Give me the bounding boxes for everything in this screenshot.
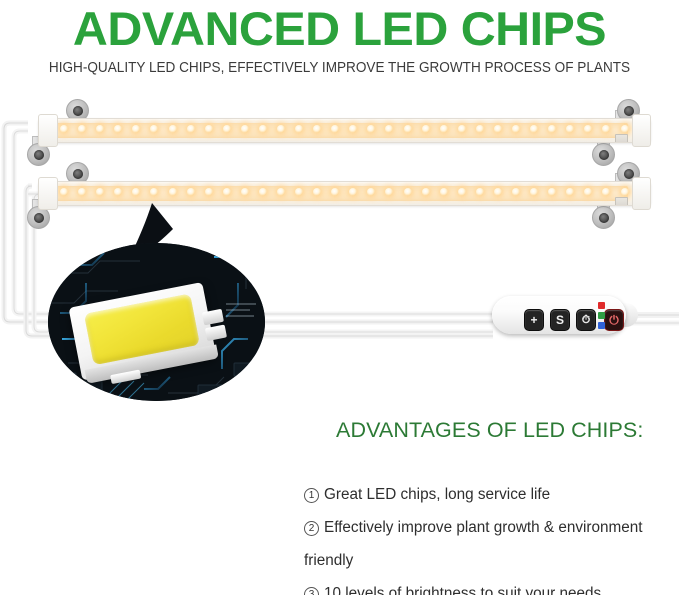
product-marketing-image: ADVANCED LED CHIPS HIGH-QUALITY LED CHIP…	[0, 0, 679, 595]
led-diode	[313, 125, 321, 133]
led-diode	[458, 188, 466, 196]
led-diode	[367, 125, 375, 133]
led-diode	[476, 125, 484, 133]
led-diode	[349, 125, 357, 133]
list-item-text: Great LED chips, long service life	[324, 486, 550, 503]
brightness-up-button[interactable]: +	[524, 309, 544, 331]
led-diode	[584, 125, 592, 133]
led-diode	[530, 125, 538, 133]
led-diode	[169, 125, 177, 133]
mount-bracket-bottom-right	[592, 143, 615, 166]
led-diode	[566, 125, 574, 133]
led-strip-top	[10, 108, 669, 152]
led-diode	[602, 125, 610, 133]
list-number-icon: 2	[304, 521, 319, 536]
led-diode	[241, 188, 249, 196]
strip-contacts	[615, 134, 628, 143]
indicator-red	[598, 302, 605, 309]
led-diode	[494, 125, 502, 133]
led-diode	[277, 125, 285, 133]
led-diode	[440, 188, 448, 196]
led-diode	[60, 125, 68, 133]
led-diode	[548, 125, 556, 133]
led-diode	[367, 188, 375, 196]
led-diode	[584, 188, 592, 196]
led-diode	[223, 125, 231, 133]
strip-housing	[38, 118, 651, 143]
chip-lead	[202, 309, 224, 326]
led-diode	[331, 125, 339, 133]
led-diode	[476, 188, 484, 196]
strip-end-cap-left	[38, 114, 58, 147]
led-diode	[259, 188, 267, 196]
mount-bracket-bottom-right	[592, 206, 615, 229]
led-diode	[313, 188, 321, 196]
led-diode	[621, 125, 629, 133]
led-diode	[96, 125, 104, 133]
led-diode	[114, 125, 122, 133]
list-item-continuation: friendly	[304, 544, 674, 577]
list-item: 1Great LED chips, long service life	[304, 478, 674, 511]
led-diode	[223, 188, 231, 196]
chip-lead	[205, 325, 227, 342]
led-diode	[78, 188, 86, 196]
list-number-icon: 3	[304, 587, 319, 595]
timer-button[interactable]: ⏱	[576, 309, 596, 331]
list-item-text: 10 levels of brightness to suit your nee…	[324, 585, 601, 595]
led-diode	[277, 188, 285, 196]
list-number-icon: 1	[304, 488, 319, 503]
led-diode	[187, 125, 195, 133]
led-diode	[566, 188, 574, 196]
strip-end-cap-right	[632, 177, 651, 210]
led-diode	[241, 125, 249, 133]
led-diode	[259, 125, 267, 133]
list-item-text: Effectively improve plant growth & envir…	[324, 519, 643, 536]
led-diode	[422, 125, 430, 133]
dimmer-button[interactable]: S	[550, 309, 570, 331]
list-item: 310 levels of brightness to suit your ne…	[304, 577, 674, 595]
led-diode	[349, 188, 357, 196]
led-diode	[602, 188, 610, 196]
led-diode	[548, 188, 556, 196]
led-diode	[295, 125, 303, 133]
strip-end-cap-right	[632, 114, 651, 147]
advantages-list: 1Great LED chips, long service life 2Eff…	[304, 478, 674, 595]
strip-end-cap-left	[38, 177, 58, 210]
led-diode	[404, 188, 412, 196]
led-diode	[422, 188, 430, 196]
led-diode	[440, 125, 448, 133]
led-chip-closeup	[48, 243, 265, 401]
power-button[interactable]: ⏻	[604, 309, 624, 331]
led-diode	[404, 125, 412, 133]
strip-contacts	[615, 197, 628, 206]
led-diode	[132, 125, 140, 133]
led-diode	[78, 125, 86, 133]
controller-body: + S ⏱ ⏻	[492, 296, 626, 334]
led-diode	[530, 188, 538, 196]
advantages-heading: ADVANTAGES OF LED CHIPS:	[336, 418, 643, 443]
led-diode	[512, 125, 520, 133]
led-diode	[60, 188, 68, 196]
inline-dimmer-controller[interactable]: + S ⏱ ⏻	[492, 291, 638, 339]
led-diode	[331, 188, 339, 196]
led-diode	[494, 188, 502, 196]
list-item: 2Effectively improve plant growth & envi…	[304, 511, 674, 544]
led-diode	[621, 188, 629, 196]
indicator-blue	[598, 322, 605, 329]
indicator-green	[598, 312, 605, 319]
led-diode	[295, 188, 303, 196]
led-diode	[458, 125, 466, 133]
led-diode	[205, 125, 213, 133]
led-diode	[512, 188, 520, 196]
